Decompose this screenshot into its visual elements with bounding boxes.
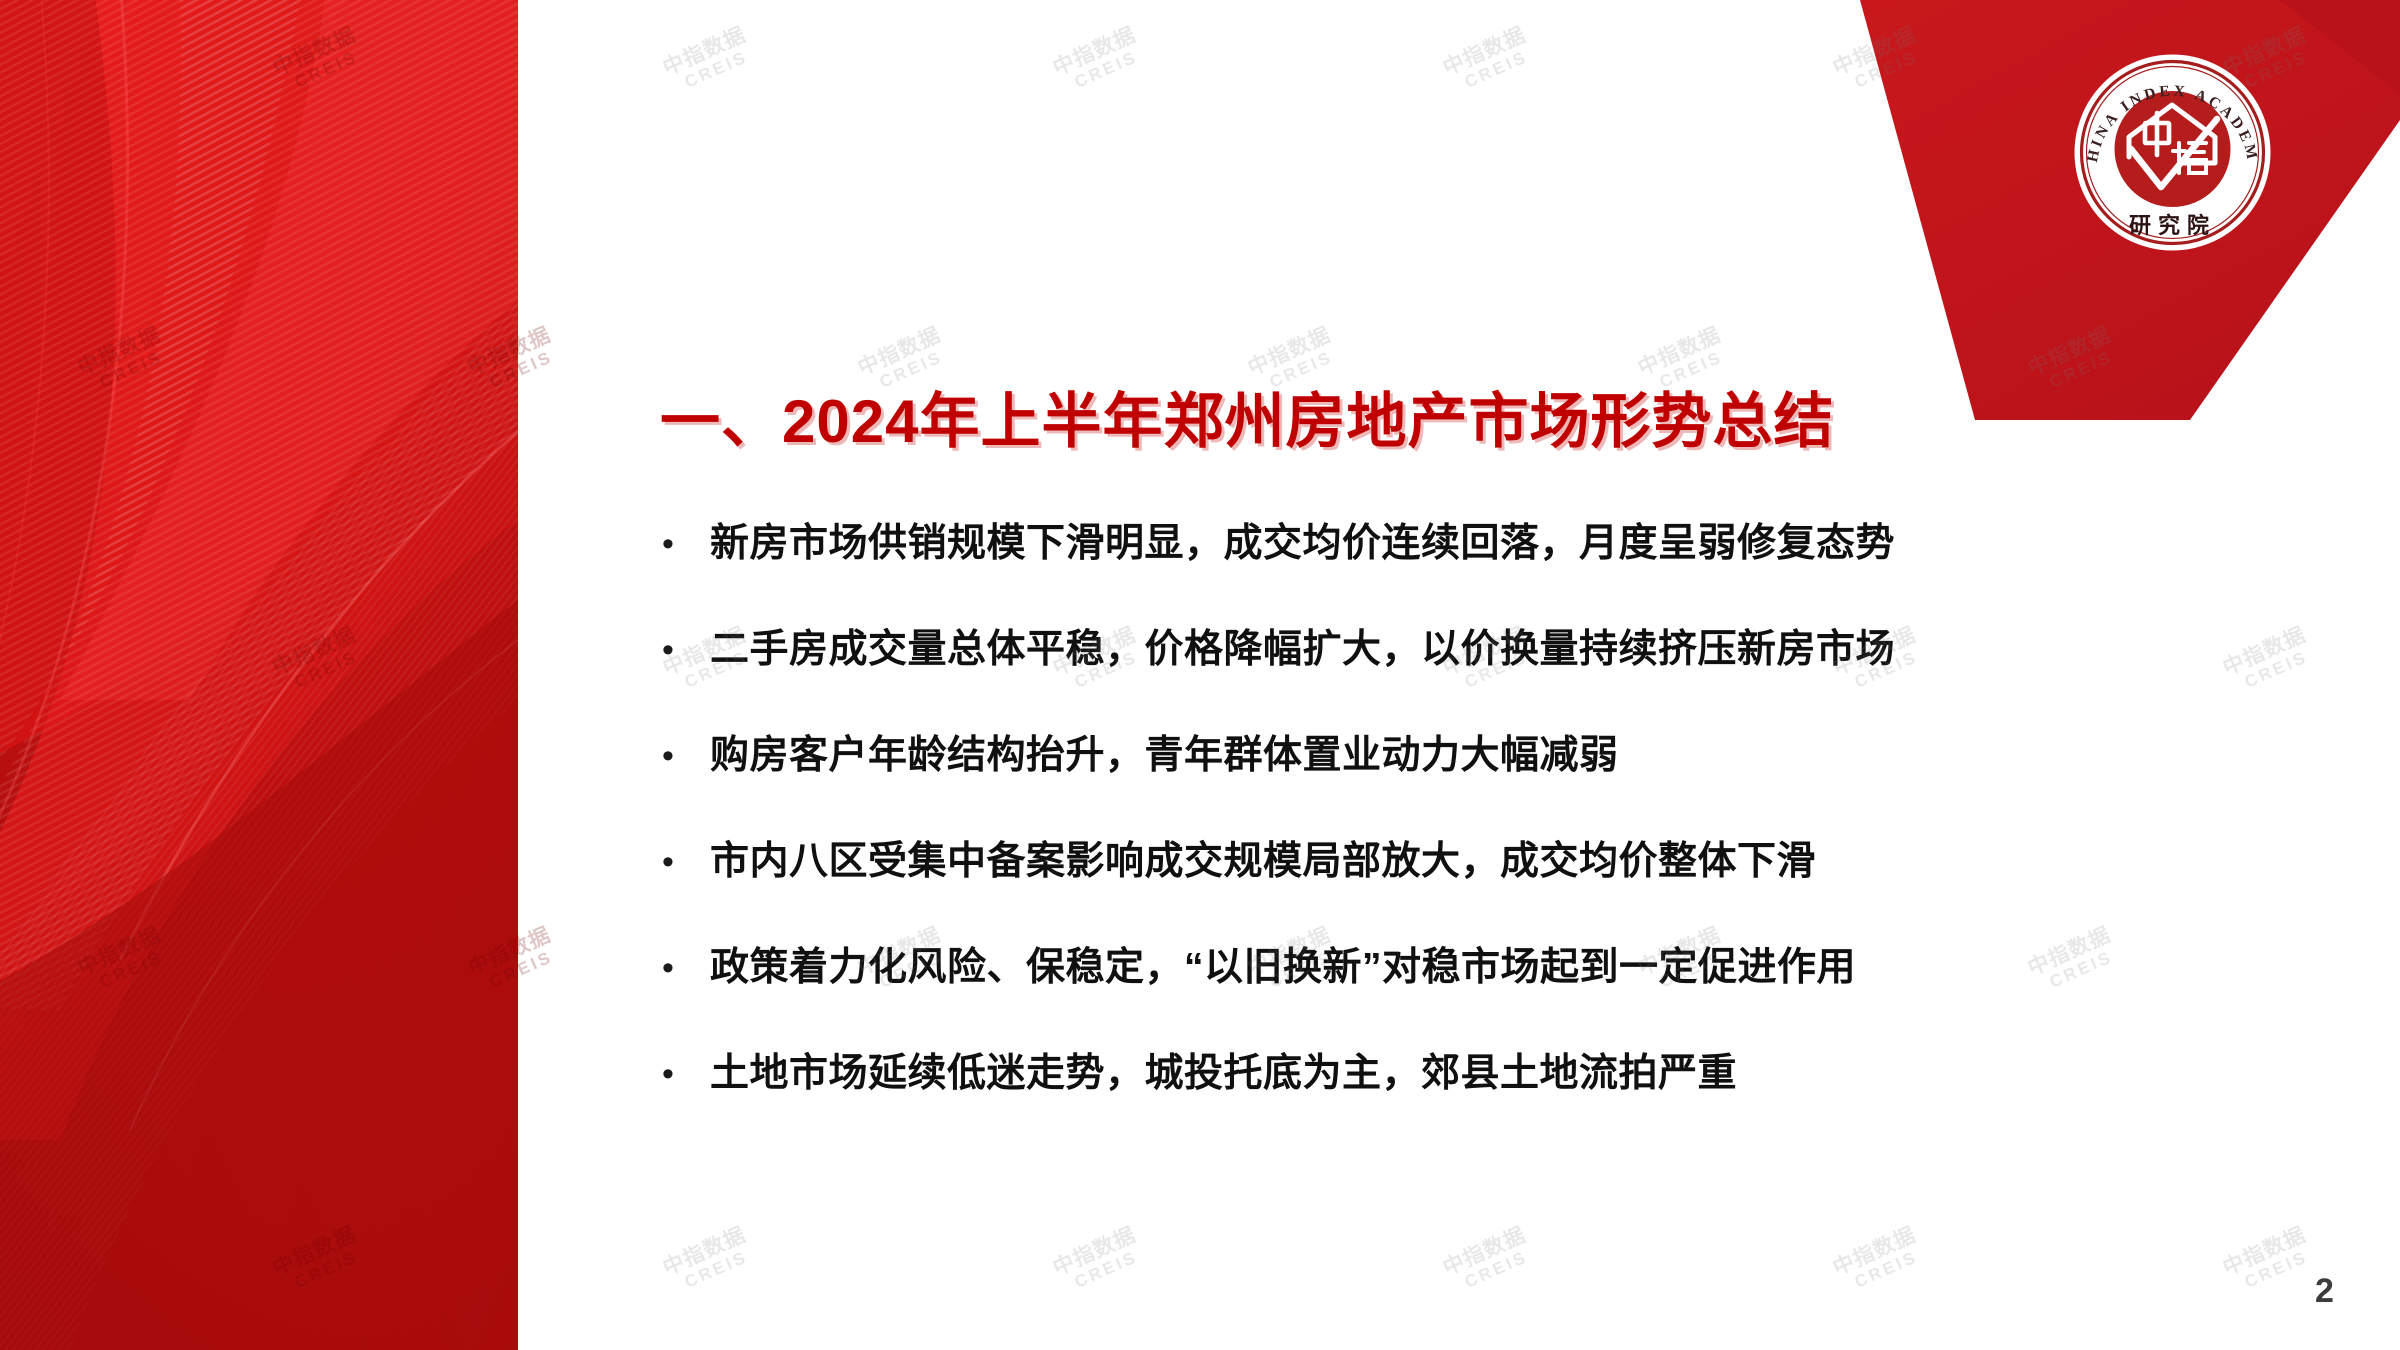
page-title: 一、2024年上半年郑州房地产市场形势总结	[660, 392, 1834, 452]
list-item-label: 新房市场供销规模下滑明显，成交均价连续回落，月度呈弱修复态势	[710, 520, 2348, 568]
list-item-label: 市内八区受集中备案影响成交规模局部放大，成交均价整体下滑	[710, 838, 2348, 886]
bullet-marker-icon: •	[648, 732, 710, 780]
bullet-marker-icon: •	[648, 520, 710, 568]
left-decorative-panel	[0, 0, 518, 1350]
slide-page: CHINA INDEX ACADEMY 研究院 一、2024年上半年郑州房地产市…	[0, 0, 2400, 1350]
list-item: • 土地市场延续低迷走势，城投托底为主，郊县土地流拍严重	[648, 1050, 2348, 1156]
list-item-label: 二手房成交量总体平稳，价格降幅扩大，以价换量持续挤压新房市场	[710, 626, 2348, 674]
list-item: • 市内八区受集中备案影响成交规模局部放大，成交均价整体下滑	[648, 838, 2348, 944]
bullet-marker-icon: •	[648, 944, 710, 992]
list-item-label: 政策着力化风险、保稳定，“以旧换新”对稳市场起到一定促进作用	[710, 944, 2348, 992]
list-item: • 购房客户年龄结构抬升，青年群体置业动力大幅减弱	[648, 732, 2348, 838]
list-item-label: 购房客户年龄结构抬升，青年群体置业动力大幅减弱	[710, 732, 2348, 780]
bullet-marker-icon: •	[648, 1050, 710, 1098]
bullet-marker-icon: •	[648, 838, 710, 886]
list-item: • 政策着力化风险、保稳定，“以旧换新”对稳市场起到一定促进作用	[648, 944, 2348, 1050]
slide-content: 一、2024年上半年郑州房地产市场形势总结 • 新房市场供销规模下滑明显，成交均…	[518, 0, 2400, 1350]
bullet-list: • 新房市场供销规模下滑明显，成交均价连续回落，月度呈弱修复态势 • 二手房成交…	[648, 520, 2348, 1156]
list-item: • 新房市场供销规模下滑明显，成交均价连续回落，月度呈弱修复态势	[648, 520, 2348, 626]
bullet-marker-icon: •	[648, 626, 710, 674]
red-swirl-graphic	[0, 0, 518, 1350]
list-item: • 二手房成交量总体平稳，价格降幅扩大，以价换量持续挤压新房市场	[648, 626, 2348, 732]
list-item-label: 土地市场延续低迷走势，城投托底为主，郊县土地流拍严重	[710, 1050, 2348, 1098]
page-number: 2	[2315, 1272, 2334, 1311]
